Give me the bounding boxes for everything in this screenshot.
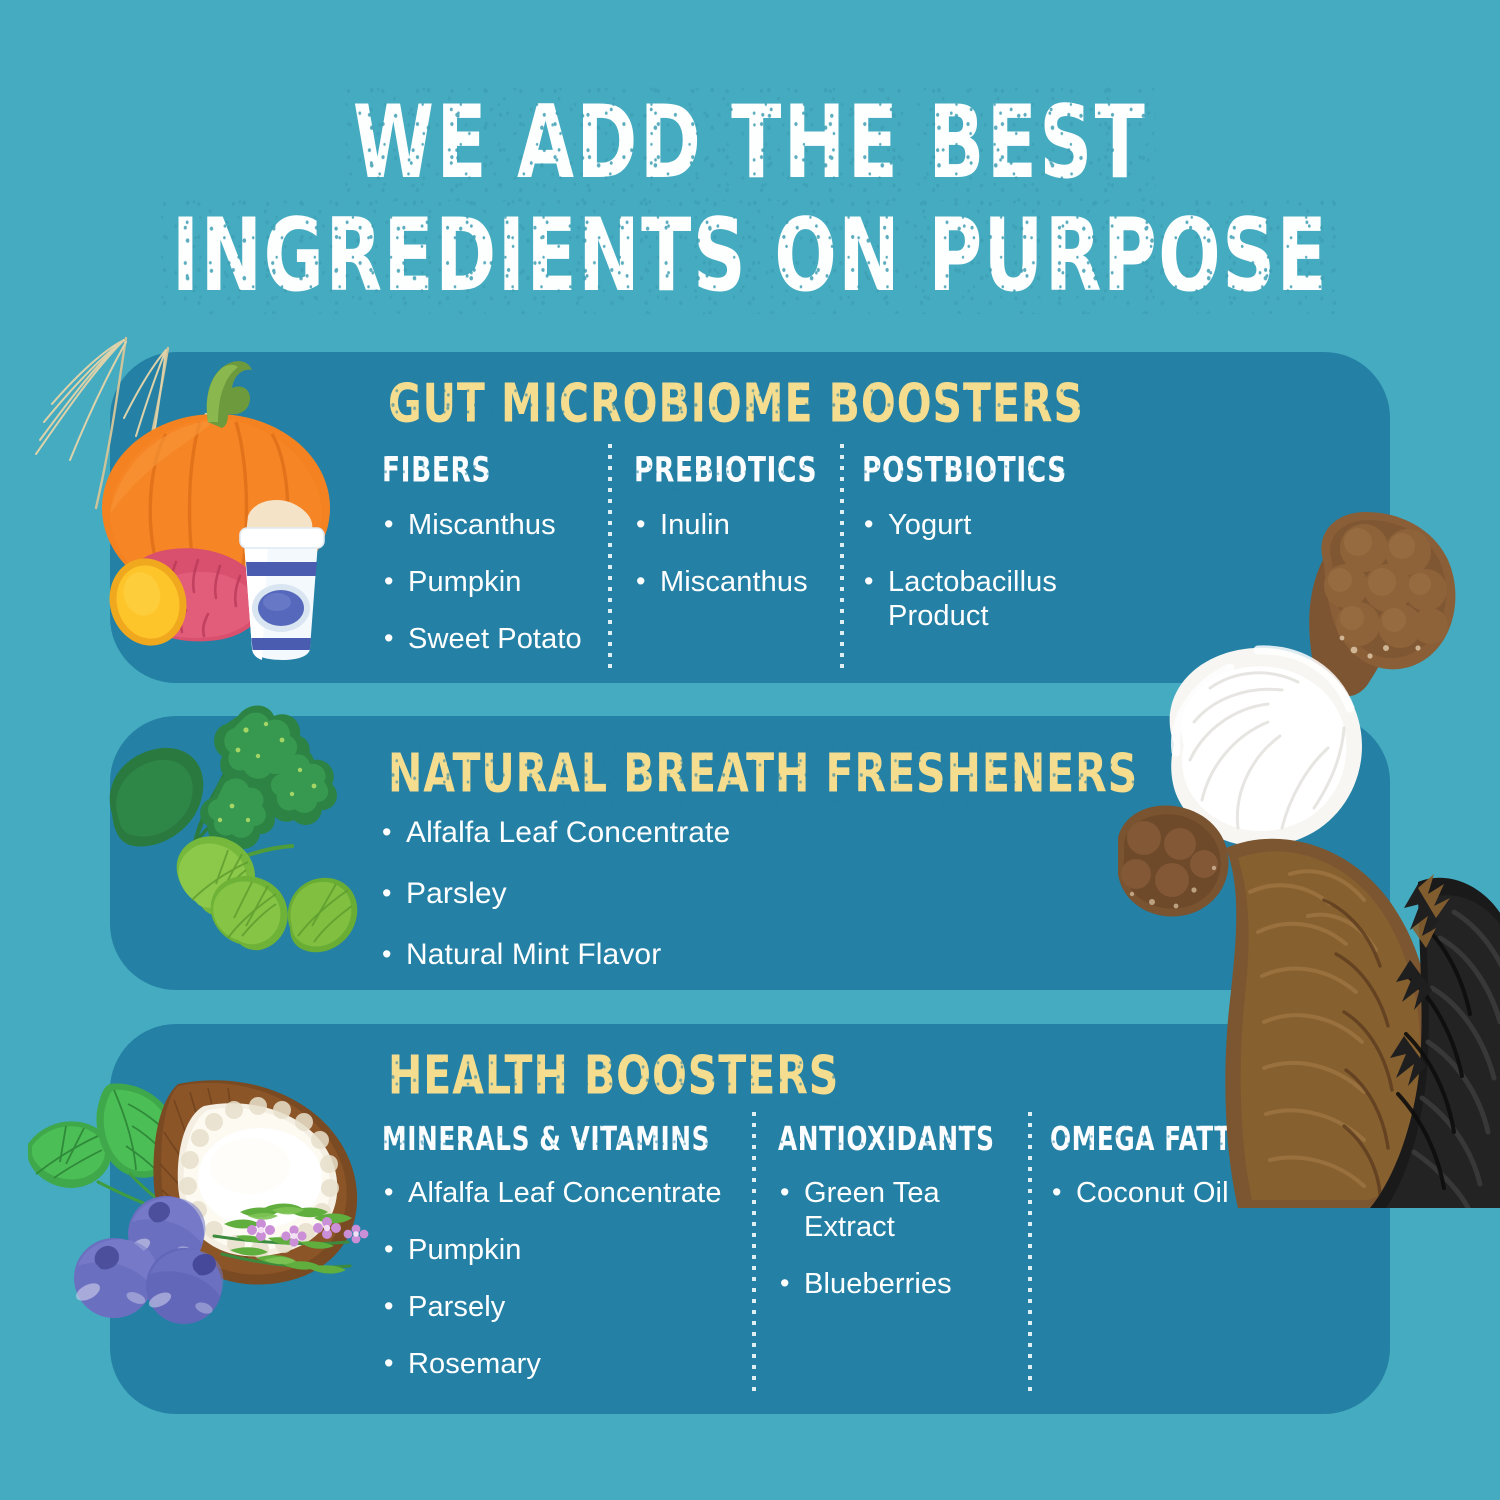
- ingredient-list: Inulin Miscanthus: [634, 508, 849, 599]
- column-heading: OMEGA FATTY ACIDS: [1050, 1120, 1364, 1158]
- list-item: Alfalfa Leaf Concentrate: [380, 816, 1020, 850]
- page-title: WE ADD THE BEST INGREDIENTS ON PURPOSE: [53, 86, 1448, 312]
- column-prebiotics: PREBIOTICS Inulin Miscanthus: [634, 450, 849, 622]
- ingredient-list: Alfalfa Leaf Concentrate Pumpkin Parsely…: [382, 1176, 742, 1381]
- ingredient-list: Yogurt Lactobacillus Product: [862, 508, 1112, 633]
- card-gut-microbiome-boosters: GUT MICROBIOME BOOSTERS FIBERS Miscanthu…: [110, 352, 1390, 683]
- page-title-line-2: INGREDIENTS ON PURPOSE: [172, 199, 1329, 312]
- column-heading: PREBIOTICS: [634, 450, 838, 490]
- column-postbiotics: POSTBIOTICS Yogurt Lactobacillus Product: [862, 450, 1112, 656]
- list-item: Parsely: [382, 1290, 742, 1324]
- column-antioxidants: ANTIOXIDANTS Green Tea Extract Blueberri…: [778, 1120, 998, 1324]
- list-item: Miscanthus: [634, 565, 849, 599]
- page-title-line-1: WE ADD THE BEST: [353, 86, 1147, 199]
- column-heading: ANTIOXIDANTS: [778, 1120, 987, 1158]
- list-item: Yogurt: [862, 508, 1112, 542]
- ingredient-list: Alfalfa Leaf Concentrate Parsley Natural…: [380, 816, 1020, 972]
- column-divider: [1028, 1112, 1032, 1392]
- infographic-canvas: WE ADD THE BEST INGREDIENTS ON PURPOSE G…: [0, 0, 1500, 1500]
- list-item: Natural Mint Flavor: [380, 938, 1020, 972]
- column-heading: POSTBIOTICS: [862, 450, 1100, 490]
- card-health-boosters: HEALTH BOOSTERS MINERALS & VITAMINS Alfa…: [110, 1024, 1390, 1414]
- list-item: Coconut Oil: [1050, 1176, 1380, 1210]
- ingredient-list: Coconut Oil: [1050, 1176, 1380, 1210]
- column-heading: MINERALS & VITAMINS: [382, 1120, 724, 1158]
- list-item: Rosemary: [382, 1347, 742, 1381]
- column-minerals-vitamins: MINERALS & VITAMINS Alfalfa Leaf Concent…: [382, 1120, 742, 1404]
- list-item: Parsley: [380, 877, 1020, 911]
- card-natural-breath-fresheners: NATURAL BREATH FRESHENERS Alfalfa Leaf C…: [110, 716, 1390, 990]
- column-divider: [752, 1112, 756, 1392]
- ingredient-list: Green Tea Extract Blueberries: [778, 1176, 998, 1301]
- column-omega-fatty-acids: OMEGA FATTY ACIDS Coconut Oil: [1050, 1120, 1380, 1233]
- list-item: Pumpkin: [382, 1233, 742, 1267]
- list-item: Blueberries: [778, 1267, 998, 1301]
- list-item: Alfalfa Leaf Concentrate: [382, 1176, 742, 1210]
- list-item: Lactobacillus Product: [862, 565, 1112, 633]
- column-breath-fresheners: Alfalfa Leaf Concentrate Parsley Natural…: [380, 816, 1020, 999]
- list-item: Inulin: [634, 508, 849, 542]
- list-item: Sweet Potato: [382, 622, 702, 656]
- list-item: Green Tea Extract: [778, 1176, 998, 1244]
